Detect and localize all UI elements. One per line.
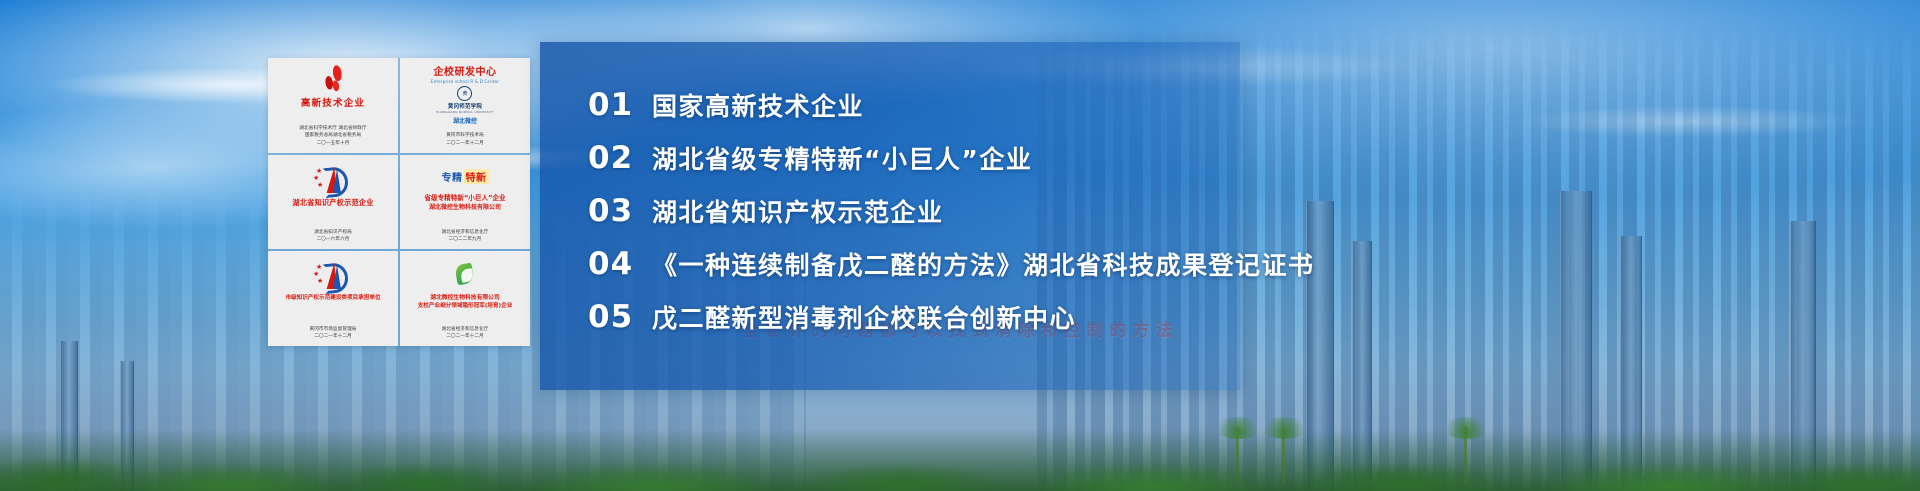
certificate-grid: 高新技术企业 湖北省科学技术厅 湖北省财政厅 国家税务总局湖北省税务局 二〇一五… [268,58,530,346]
certificate-issuer: 湖北省知识产权局 二〇一六年六月 [314,229,352,245]
honor-label: 《一种连续制备戊二醛的方法》湖北省科技成果登记证书 [652,246,1315,282]
issuer-line: 二〇一五年十月 [299,140,366,147]
certificate-subtitle: 支柱产业细分领域隐形冠军(培育)企业 [418,303,513,310]
issuer-line: 二〇二一年十二月 [442,333,489,340]
issuer-line: 二〇二一年十二月 [446,140,484,147]
certificate-card[interactable]: 专精 特新 省级专精特新“小巨人”企业 湖北微控生物科技有限公司 湖北省经济和信… [400,155,530,250]
certificate-issuer: 湖北省经济和信息化厅 二〇二一年十二月 [442,326,489,342]
certificate-title: 省级专精特新“小巨人”企业 [424,195,505,203]
honor-number: 02 [588,140,652,176]
honor-label: 湖北省级专精特新“小巨人”企业 [652,140,1032,176]
certificate-issuer: 黄冈市市场监督管理局 二〇二一年十二月 [310,326,357,342]
honor-item[interactable]: 02 湖北省级专精特新“小巨人”企业 [588,131,1878,184]
certificate-title: 湖北省知识产权示范企业 [292,199,373,208]
honor-label: 戊二醛新型消毒剂企校联合创新中心 [652,299,1076,335]
honor-item[interactable]: 04 《一种连续制备戊二醛的方法》湖北省科技成果登记证书 [588,237,1878,290]
certificate-org: 湖北微控 [453,118,477,125]
honor-item[interactable]: 03 湖北省知识产权示范企业 [588,184,1878,237]
emblem-title-en: Enterprise school R & D Center [431,79,499,84]
issuer-line: 二〇二一年十二月 [310,333,357,340]
palm-tree-2 [1282,427,1285,485]
honor-item[interactable]: 05 戊二醛新型消毒剂企校联合创新中心 [588,290,1878,343]
certificate-card[interactable]: 湖北微控生物科技有限公司 支柱产业细分领域隐形冠军(培育)企业 湖北省经济和信息… [400,251,530,346]
green-leaf-emblem [404,258,526,292]
banner-stage: 全世界的问题都可以找到消除和控制的方法 高新技术企业 湖北省科学技术厅 湖北省财… [0,0,1920,491]
honor-item[interactable]: 01 国家高新技术企业 [588,78,1878,131]
certificate-issuer: 湖北省经济和信息化厅 二〇二二年九月 [442,229,489,245]
certificate-title: 湖北微控生物科技有限公司 [430,295,500,302]
issuer-line: 湖北省经济和信息化厅 [442,229,489,236]
certificate-issuer: 黄冈市科学技术局 二〇二一年十二月 [446,132,484,148]
university-name-en: HUANGGANG NORMAL UNIVERSITY [436,110,494,114]
issuer-line: 黄冈市市场监督管理局 [310,326,357,333]
university-seal-icon: 黄 [457,86,472,101]
emblem-title-cn: 企校研发中心 [433,68,496,78]
emblem-text-texin: 特新 [464,169,489,184]
issuer-line: 国家税务总局湖北省税务局 [299,132,366,139]
honor-number: 01 [588,87,652,123]
star-d-emblem: ★★★ [272,258,394,292]
star-d-emblem: ★★★ [272,162,394,196]
greenery-strip [0,429,1920,491]
palm-tree-3 [1464,427,1467,485]
honor-number: 05 [588,299,652,335]
emblem-text-zhuanjing: 专精 [442,169,463,184]
zhuanjing-texin-emblem: 专精 特新 [404,162,526,192]
certificate-title: 市级知识产权示范建设类项目承担单位 [285,295,380,302]
honors-list: 01 国家高新技术企业 02 湖北省级专精特新“小巨人”企业 03 湖北省知识产… [588,78,1878,343]
school-rd-center-emblem: 企校研发中心 Enterprise school R & D Center 黄 … [404,65,526,117]
certificate-card[interactable]: ★★★ 市级知识产权示范建设类项目承担单位 黄冈市市场监督管理局 二〇二一年十二… [268,251,398,346]
certificate-card[interactable]: ★★★ 湖北省知识产权示范企业 湖北省知识产权局 二〇一六年六月 [268,155,398,250]
issuer-line: 湖北省经济和信息化厅 [442,326,489,333]
certificate-card[interactable]: 高新技术企业 湖北省科学技术厅 湖北省财政厅 国家税务总局湖北省税务局 二〇一五… [268,58,398,153]
flame-emblem [272,65,394,95]
honor-number: 04 [588,246,652,282]
issuer-line: 二〇二二年九月 [442,236,489,243]
palm-tree-1 [1236,427,1239,485]
honor-number: 03 [588,193,652,229]
certificate-title: 高新技术企业 [301,98,365,109]
certificate-card[interactable]: 企校研发中心 Enterprise school R & D Center 黄 … [400,58,530,153]
issuer-line: 湖北省知识产权局 [314,229,352,236]
certificate-subtitle: 湖北微控生物科技有限公司 [429,204,501,211]
issuer-line: 黄冈市科学技术局 [446,132,484,139]
honor-label: 湖北省知识产权示范企业 [652,193,944,229]
honor-label: 国家高新技术企业 [652,87,864,123]
certificate-issuer: 湖北省科学技术厅 湖北省财政厅 国家税务总局湖北省税务局 二〇一五年十月 [299,125,366,148]
issuer-line: 二〇一六年六月 [314,236,352,243]
issuer-line: 湖北省科学技术厅 湖北省财政厅 [299,125,366,132]
university-name: 黄冈师范学院 [448,102,482,110]
